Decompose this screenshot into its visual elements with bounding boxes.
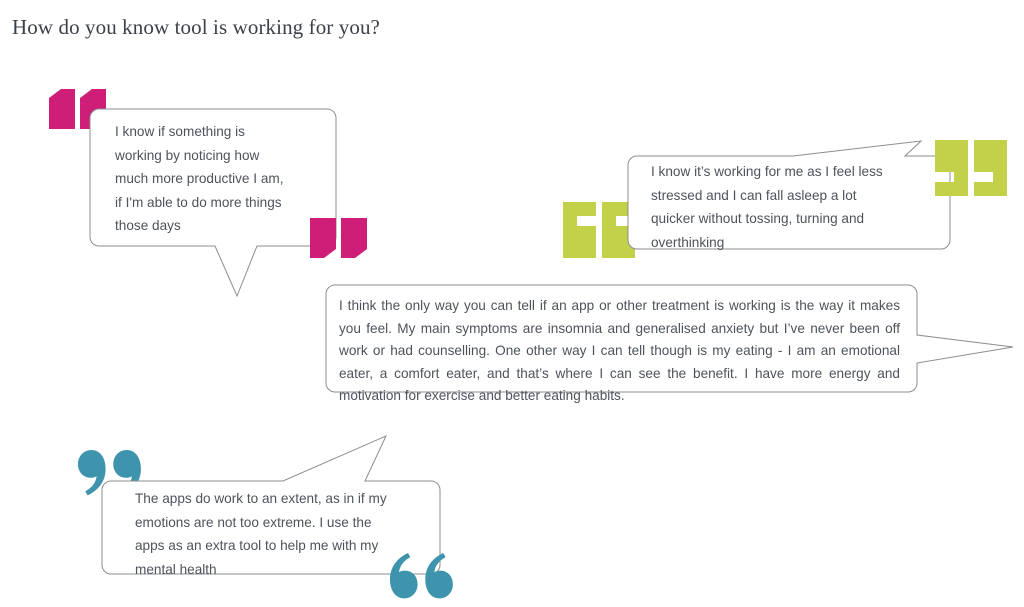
closing-quote-icon — [386, 553, 458, 601]
quote-card-extra-tool: The apps do work to an extent, as in if … — [0, 0, 500, 607]
